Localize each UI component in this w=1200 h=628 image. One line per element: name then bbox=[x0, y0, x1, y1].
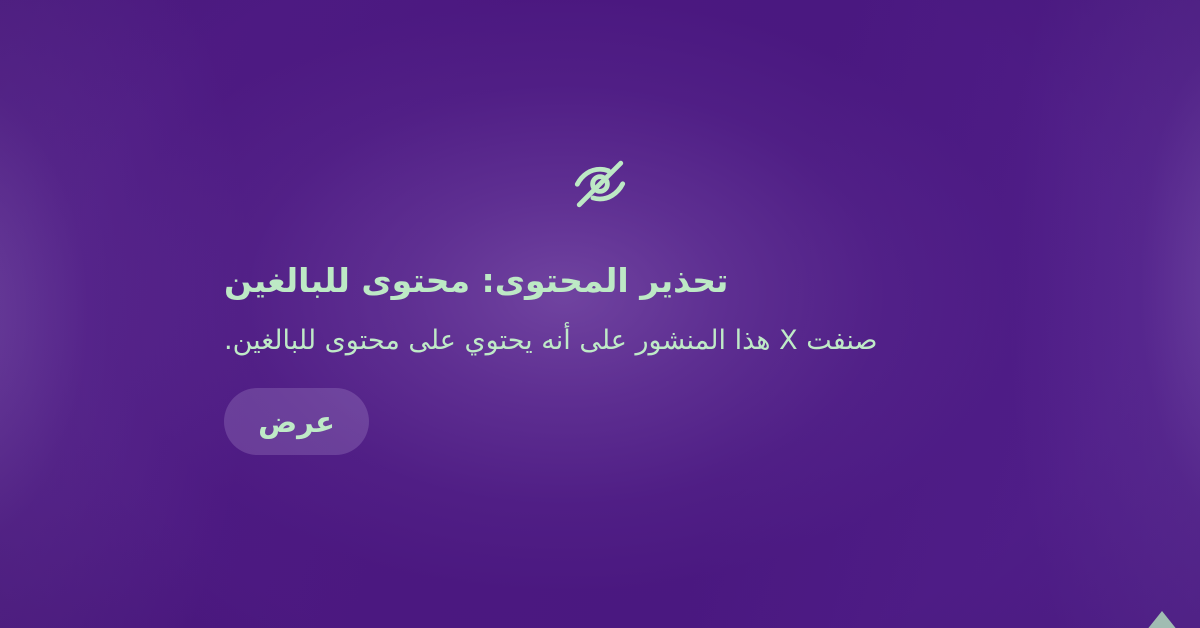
warning-content: تحذير المحتوى: محتوى للبالغين صنفت X هذا… bbox=[0, 0, 1200, 628]
warning-icon-row bbox=[0, 155, 1200, 213]
warning-description: صنفت X هذا المنشور على أنه يحتوي على محت… bbox=[224, 323, 877, 358]
content-warning-card: تحذير المحتوى: محتوى للبالغين صنفت X هذا… bbox=[0, 0, 1200, 628]
page-title: تحذير المحتوى: محتوى للبالغين bbox=[224, 260, 728, 301]
view-button[interactable]: عرض bbox=[224, 388, 369, 455]
eye-off-icon bbox=[571, 155, 629, 213]
warning-text-block: تحذير المحتوى: محتوى للبالغين صنفت X هذا… bbox=[0, 213, 1200, 455]
